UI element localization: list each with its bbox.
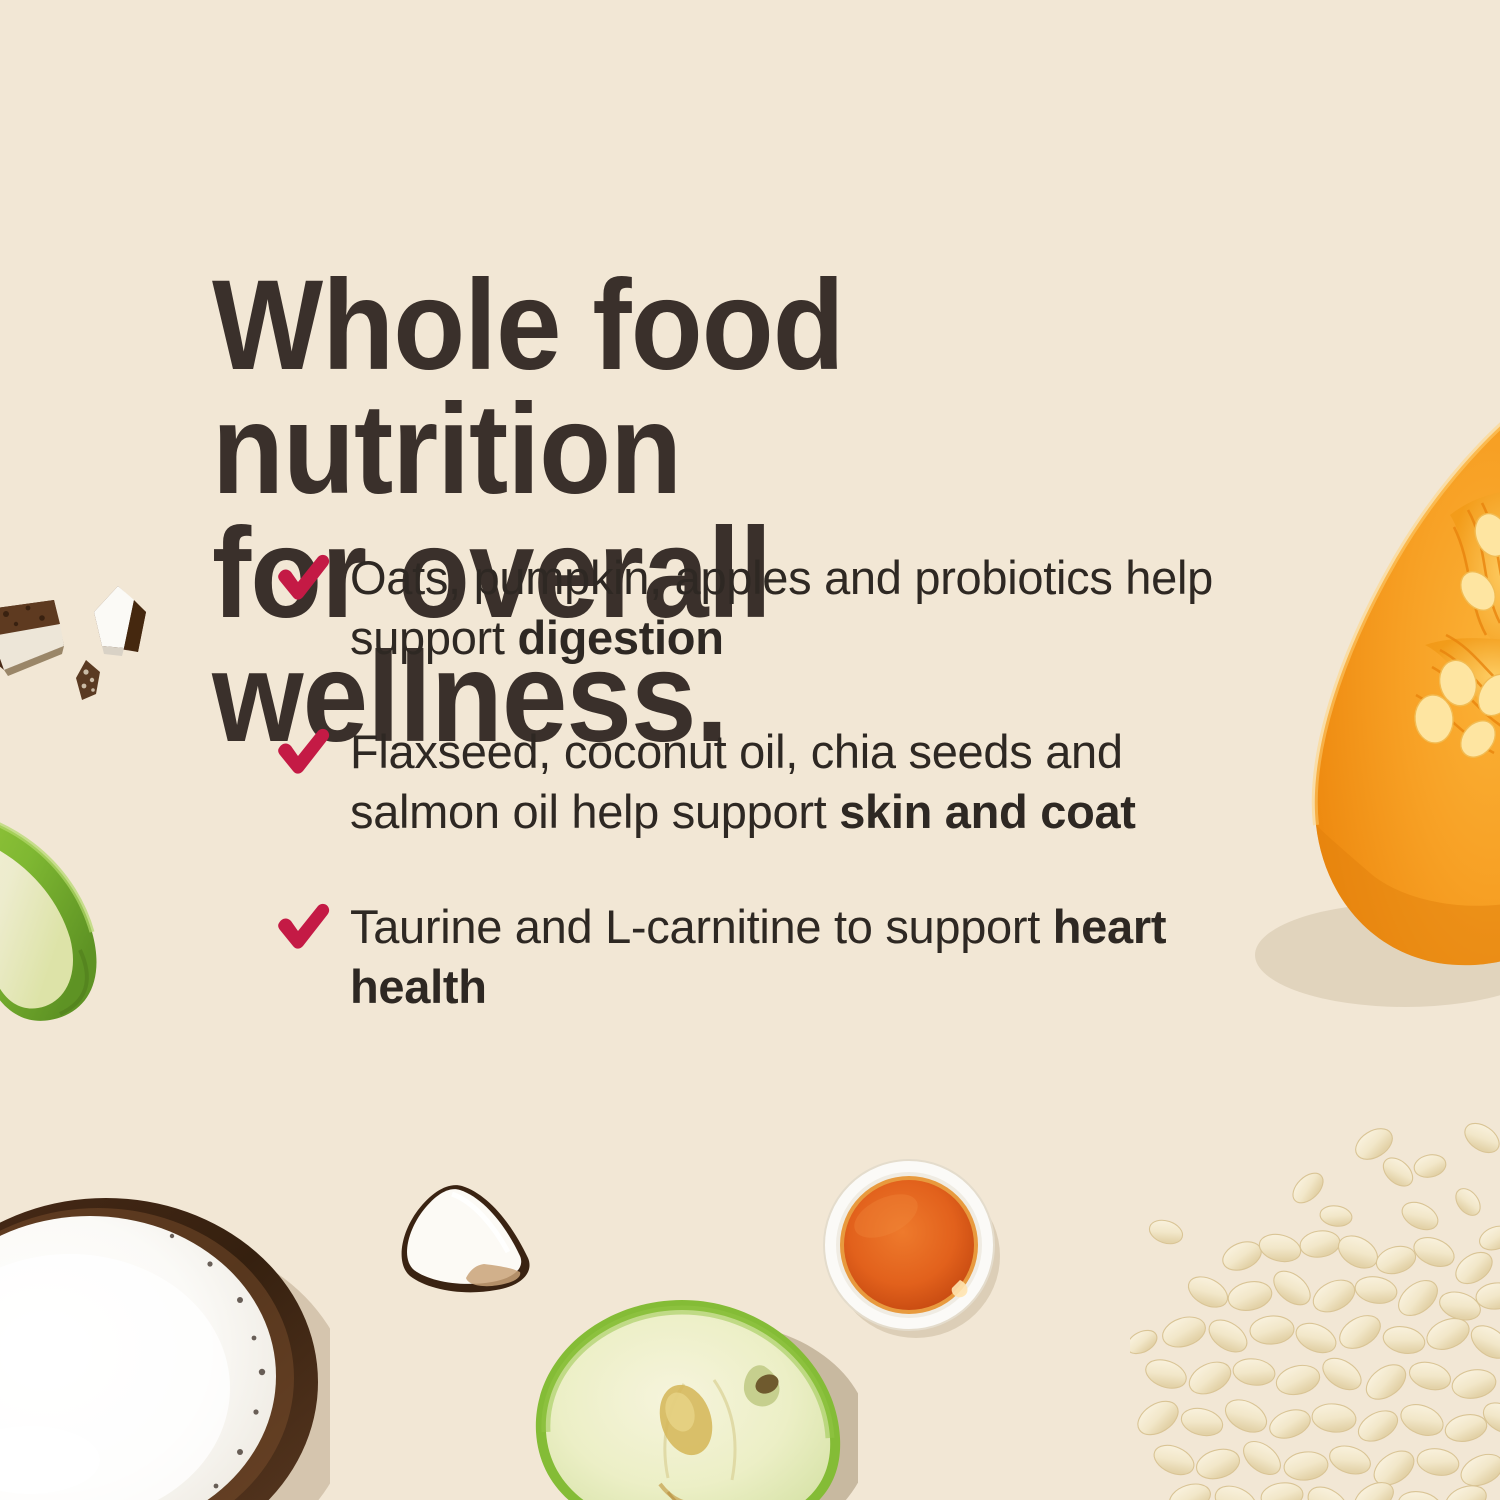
coconut-chunk-photo: [88, 582, 150, 662]
salmon-oil-bowl-photo: [814, 1152, 1004, 1342]
check-icon: [276, 903, 332, 951]
list-item-label: Flaxseed, coconut oil, chia seeds and sa…: [350, 725, 1136, 838]
coconut-half-photo: [0, 1160, 330, 1500]
green-apple-half-photo: [518, 1288, 858, 1500]
benefits-list: Oats, pumpkin, apples and probiotics hel…: [276, 548, 1236, 1017]
list-item-label: Oats, pumpkin, apples and probiotics hel…: [350, 551, 1213, 664]
coconut-chunk-photo: [0, 588, 70, 678]
green-apple-slice-photo: [0, 800, 165, 1025]
list-item: Oats, pumpkin, apples and probiotics hel…: [276, 548, 1236, 668]
list-item: Flaxseed, coconut oil, chia seeds and sa…: [276, 722, 1236, 842]
coconut-chunk-photo: [72, 658, 106, 702]
check-icon: [276, 554, 332, 602]
list-item-label: Taurine and L-carnitine to support heart…: [350, 900, 1166, 1013]
list-item: Taurine and L-carnitine to support heart…: [276, 897, 1236, 1017]
promo-image-canvas: Whole food nutrition for overall wellnes…: [0, 0, 1500, 1500]
rolled-oats-photo: [1130, 1120, 1500, 1500]
check-icon: [276, 728, 332, 776]
